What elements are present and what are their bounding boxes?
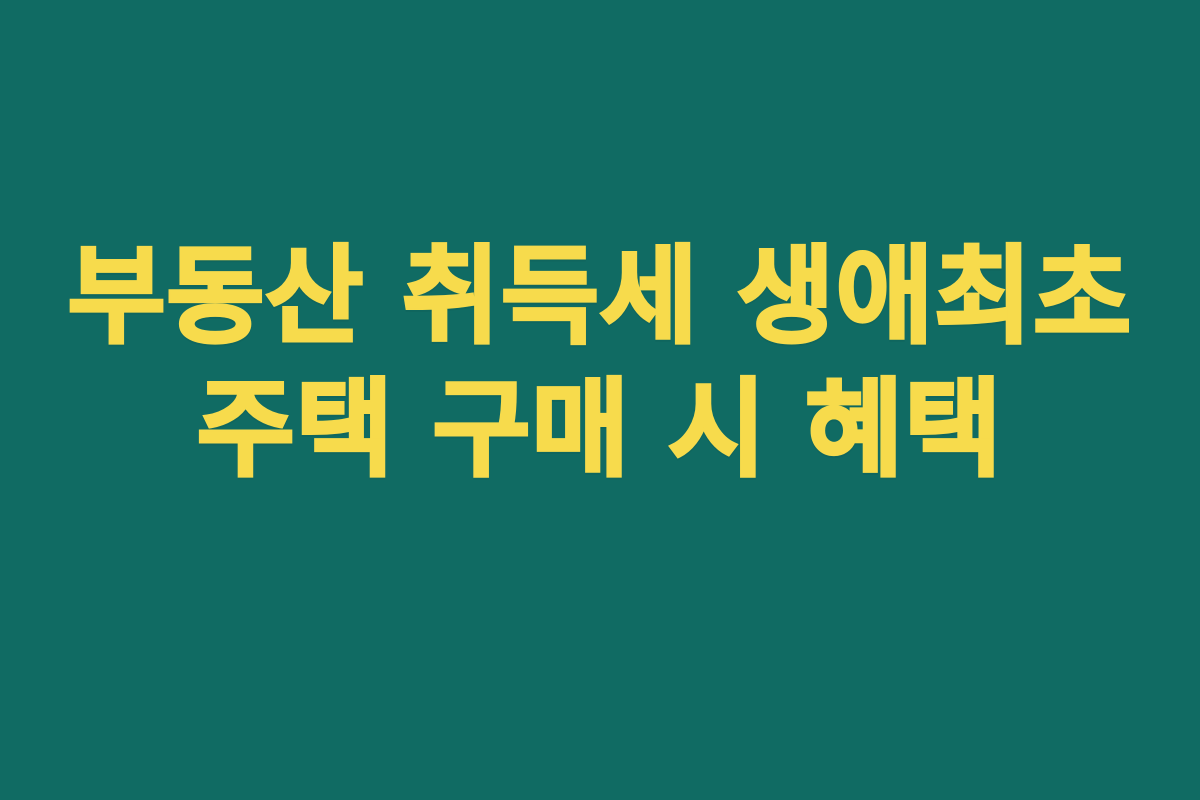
headline-line-2: 주택 구매 시 혜택 (197, 371, 1003, 490)
headline-block: 부동산 취득세 생애최초 주택 구매 시 혜택 (0, 238, 1200, 489)
headline-line-1: 부동산 취득세 생애최초 (68, 238, 1132, 357)
banner-canvas: 부동산 취득세 생애최초 주택 구매 시 혜택 (0, 0, 1200, 800)
